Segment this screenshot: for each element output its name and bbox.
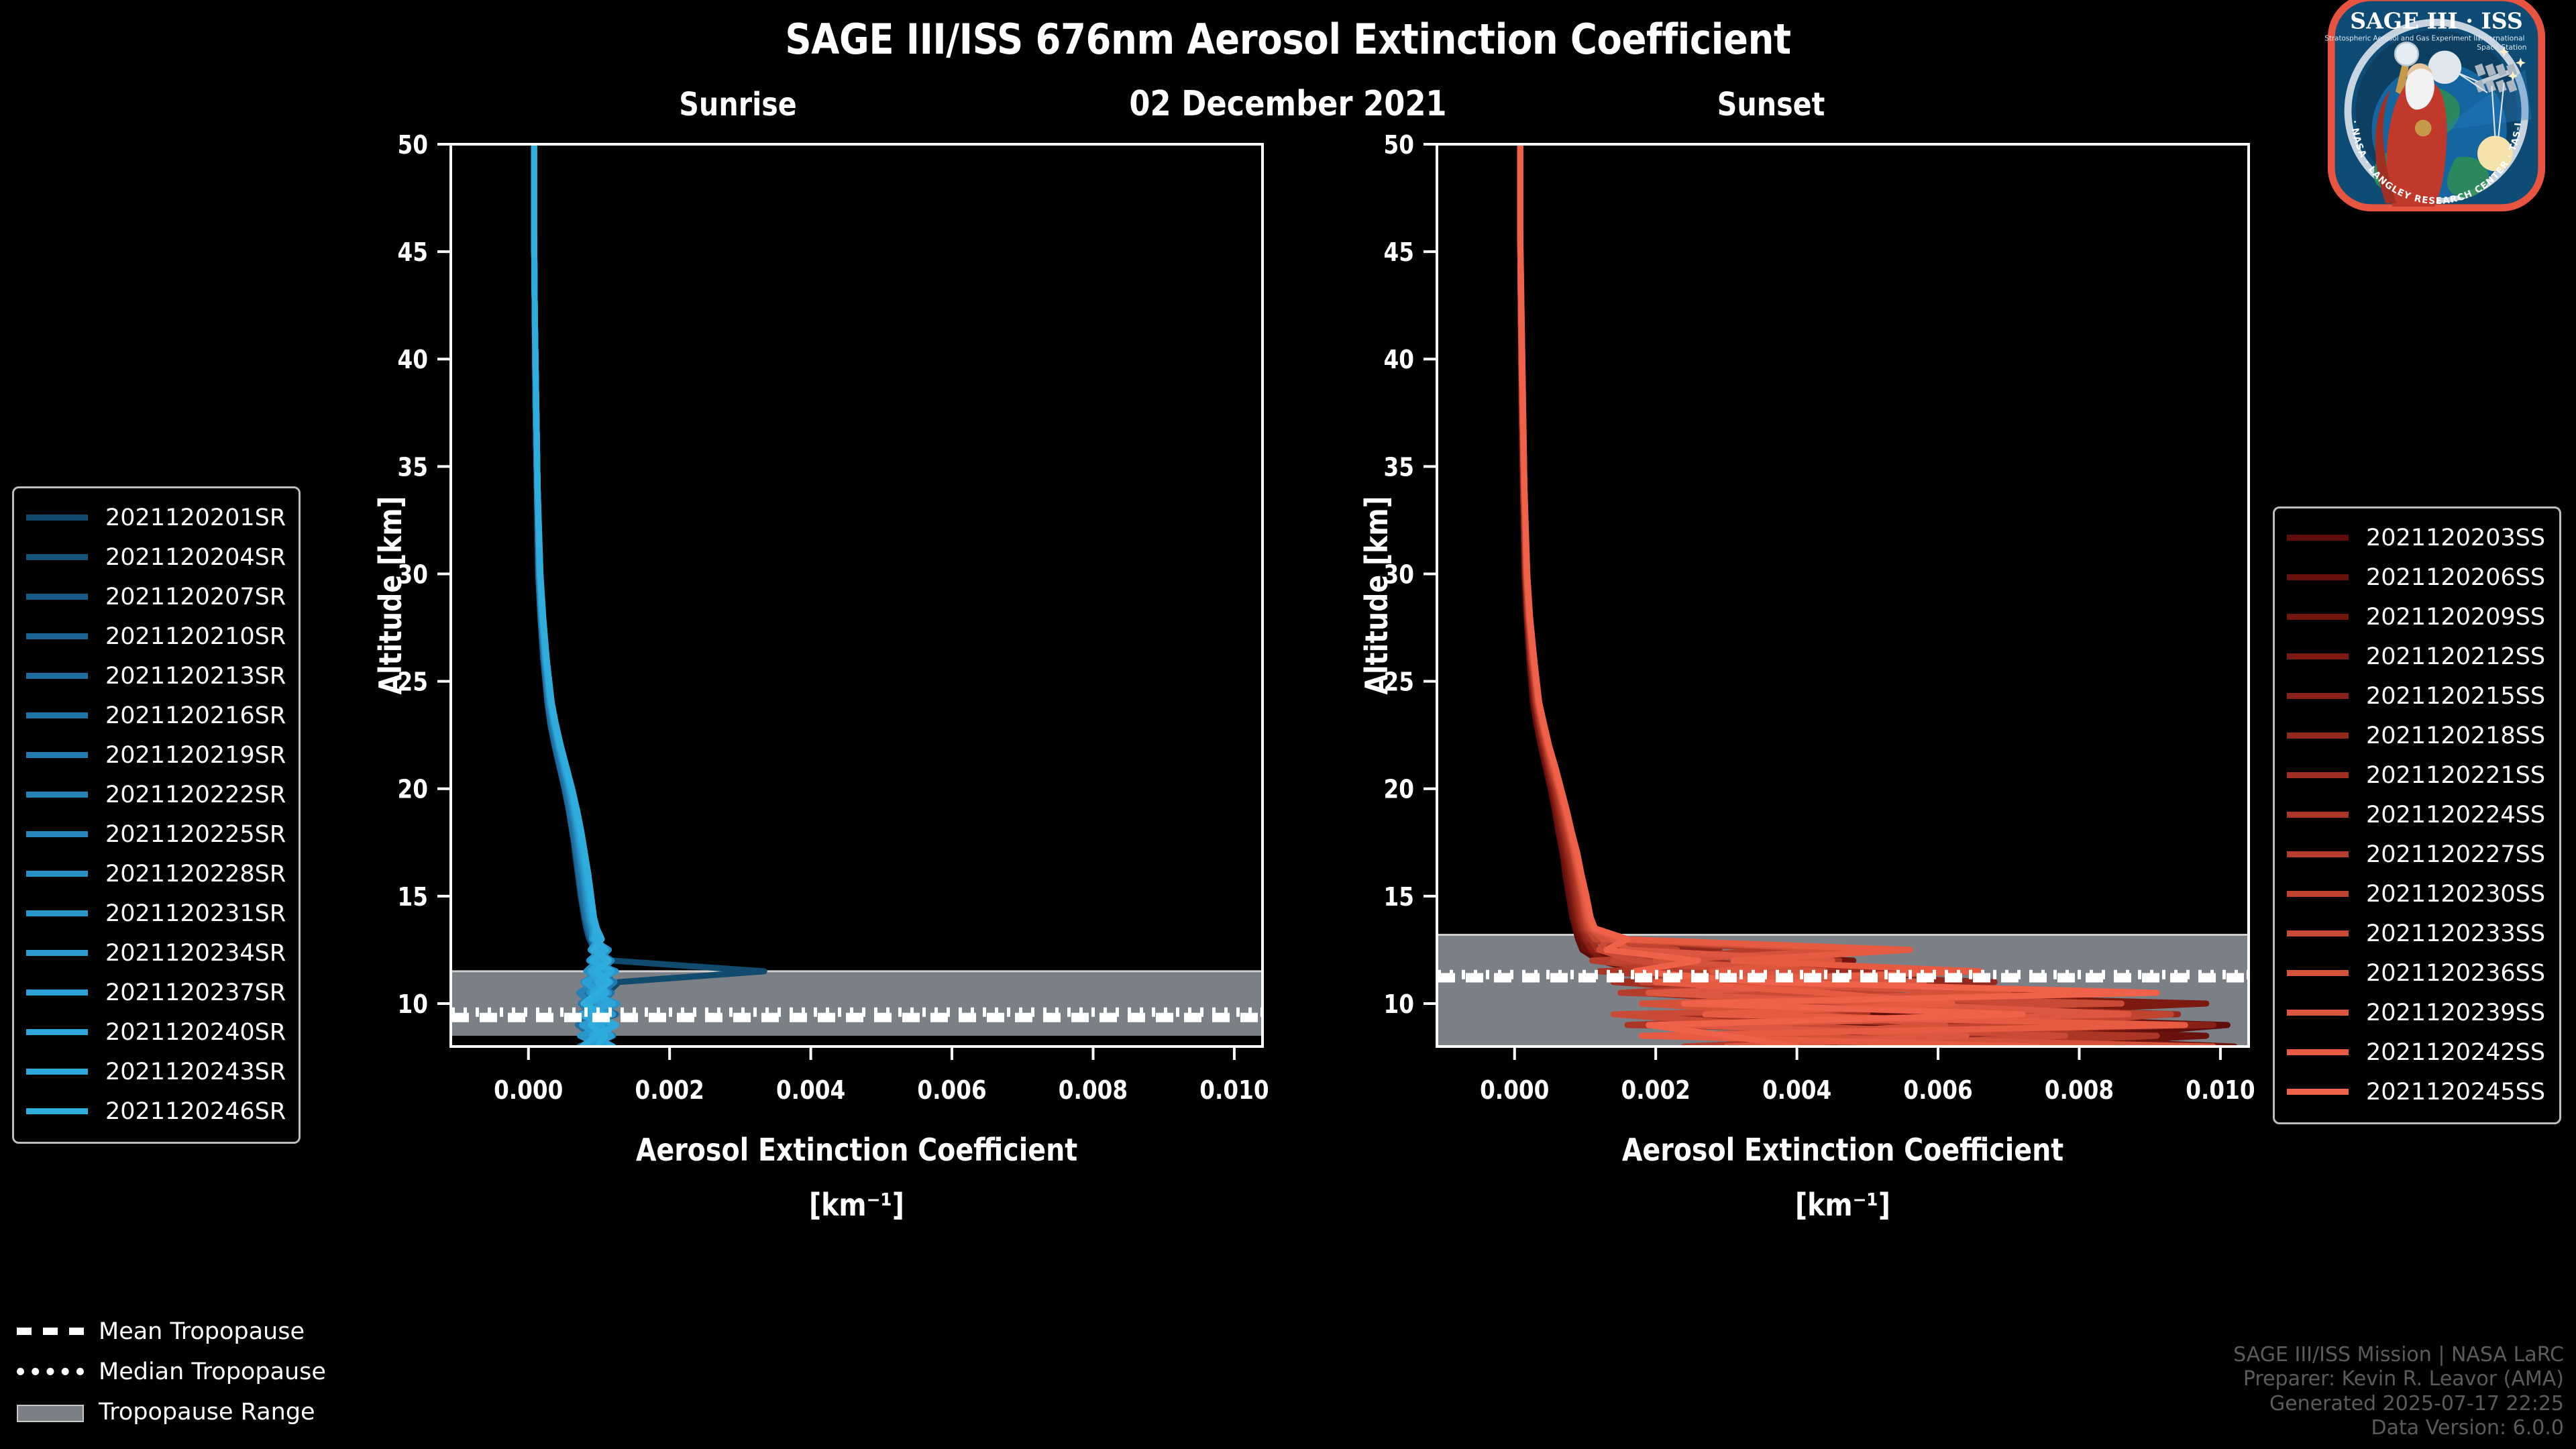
- legend-event-label: 2021120204SR: [105, 544, 286, 571]
- legend-event-label: 2021120246SR: [105, 1098, 286, 1125]
- sunset-legend-item: 2021120215SS: [2287, 676, 2544, 716]
- legend-event-label: 2021120240SR: [105, 1019, 286, 1046]
- legend-event-label: 2021120231SR: [105, 900, 286, 927]
- figure-belt-buckle: [2415, 120, 2432, 137]
- sunset-legend-item: 2021120230SS: [2287, 874, 2544, 914]
- legend-color-swatch: [2287, 1049, 2349, 1055]
- sunrise-legend-item: 2021120213SR: [26, 656, 284, 696]
- y-tick-label: 10: [1384, 990, 1414, 1020]
- credits-line-mission: SAGE III/ISS Mission | NASA LaRC: [2233, 1343, 2564, 1368]
- sunrise-event-legend: 2021120201SR2021120204SR2021120207SR2021…: [12, 486, 301, 1144]
- x-tick-label: 0.004: [776, 1076, 845, 1106]
- plot-background: [1437, 144, 2249, 1046]
- legend-color-swatch: [26, 673, 88, 679]
- sunset-legend-item: 2021120236SS: [2287, 953, 2544, 993]
- legend-event-label: 2021120206SS: [2366, 564, 2545, 591]
- legend-color-swatch: [26, 950, 88, 956]
- y-tick-label: 35: [398, 453, 428, 482]
- band-swatch-icon: [17, 1405, 84, 1419]
- sunset-legend-item: 2021120218SS: [2287, 716, 2544, 755]
- legend-event-label: 2021120222SR: [105, 782, 286, 808]
- sunrise-legend-item: 2021120204SR: [26, 537, 284, 577]
- y-tick-label: 15: [398, 883, 428, 912]
- legend-color-swatch: [26, 1029, 88, 1035]
- legend-color-swatch: [2287, 1089, 2349, 1095]
- credits-line-generated: Generated 2025-07-17 22:25: [2233, 1392, 2564, 1417]
- dotted-line-icon: [17, 1364, 84, 1379]
- y-tick-label: 45: [398, 238, 428, 268]
- legend-event-label: 2021120203SS: [2366, 525, 2545, 551]
- sunset-legend-item: 2021120221SS: [2287, 755, 2544, 795]
- x-tick-label: 0.010: [1199, 1076, 1269, 1106]
- legend-event-label: 2021120225SR: [105, 821, 286, 848]
- legend-color-swatch: [26, 989, 88, 996]
- legend-event-label: 2021120242SS: [2366, 1039, 2545, 1066]
- logo-title: SAGE III · ISS: [2350, 7, 2522, 34]
- legend-color-swatch: [2287, 614, 2349, 620]
- legend-color-swatch: [2287, 693, 2349, 699]
- date-subtitle: 02 December 2021: [180, 84, 2396, 124]
- legend-event-label: 2021120221SS: [2366, 762, 2545, 789]
- legend-color-swatch: [2287, 772, 2349, 778]
- sunrise-legend-item: 2021120243SR: [26, 1052, 284, 1091]
- legend-label-tropopause-range: Tropopause Range: [99, 1399, 315, 1426]
- sunrise-legend-item: 2021120237SR: [26, 973, 284, 1012]
- legend-color-swatch: [2287, 930, 2349, 936]
- x-tick-label: 0.006: [1903, 1076, 1972, 1106]
- legend-color-swatch: [2287, 891, 2349, 897]
- legend-color-swatch: [26, 831, 88, 837]
- legend-color-swatch: [26, 752, 88, 758]
- legend-color-swatch: [26, 633, 88, 639]
- legend-event-label: 2021120237SR: [105, 979, 286, 1006]
- y-tick-label: 40: [1384, 345, 1414, 375]
- sunset-profile-plot: 0.0000.0020.0040.0060.0080.0101015202530…: [1362, 121, 2261, 1261]
- sage-iii-iss-logo: SAGE III · ISSStratospheric Aerosol and …: [2302, 0, 2571, 213]
- legend-event-label: 2021120218SS: [2366, 722, 2545, 749]
- sunrise-panel-label: Sunrise: [623, 86, 853, 123]
- y-tick-label: 45: [1384, 238, 1414, 268]
- plot-svg: 0.0000.0020.0040.0060.0080.0101015202530…: [376, 121, 1275, 1261]
- legend-event-label: 2021120224SS: [2366, 802, 2545, 828]
- x-tick-label: 0.008: [2045, 1076, 2114, 1106]
- logo-svg: SAGE III · ISSStratospheric Aerosol and …: [2302, 0, 2571, 213]
- sunrise-legend-item: 2021120207SR: [26, 577, 284, 616]
- legend-color-swatch: [2287, 574, 2349, 580]
- legend-event-label: 2021120212SS: [2366, 643, 2545, 670]
- legend-color-swatch: [2287, 733, 2349, 739]
- dashed-line-icon: [17, 1324, 84, 1339]
- x-tick-label: 0.002: [635, 1076, 704, 1106]
- legend-color-swatch: [26, 792, 88, 798]
- legend-event-label: 2021120207SR: [105, 584, 286, 610]
- legend-event-label: 2021120209SS: [2366, 604, 2545, 631]
- sunset-legend-item: 2021120245SS: [2287, 1072, 2544, 1112]
- sunrise-legend-item: 2021120210SR: [26, 616, 284, 656]
- page-title: SAGE III/ISS 676nm Aerosol Extinction Co…: [154, 15, 2421, 64]
- tropopause-range-band: [451, 971, 1262, 1036]
- logo-subtitle-right-1: International: [2479, 34, 2524, 43]
- legend-color-swatch: [2287, 653, 2349, 659]
- sunset-legend-item: 2021120242SS: [2287, 1032, 2544, 1072]
- plot-background: [451, 144, 1263, 1046]
- y-tick-label: 50: [398, 131, 428, 160]
- sunset-legend-item: 2021120209SS: [2287, 597, 2544, 637]
- sunrise-legend-item: 2021120216SR: [26, 696, 284, 735]
- x-axis-title: Aerosol Extinction Coefficient: [636, 1132, 1077, 1169]
- legend-event-label: 2021120243SR: [105, 1059, 286, 1085]
- y-axis-title: Altitude [km]: [1362, 496, 1395, 694]
- x-axis-units: [km⁻¹]: [1795, 1187, 1890, 1224]
- x-axis-title: Aerosol Extinction Coefficient: [1622, 1132, 2063, 1169]
- legend-event-label: 2021120245SS: [2366, 1079, 2545, 1106]
- legend-event-label: 2021120236SS: [2366, 960, 2545, 987]
- legend-item-median-tropopause: Median Tropopause: [17, 1352, 366, 1392]
- sunset-legend-item: 2021120233SS: [2287, 914, 2544, 953]
- legend-color-swatch: [2287, 970, 2349, 976]
- legend-event-label: 2021120215SS: [2366, 683, 2545, 710]
- credits-line-preparer: Preparer: Kevin R. Leavor (AMA): [2233, 1367, 2564, 1392]
- legend-color-swatch: [26, 871, 88, 877]
- y-tick-label: 50: [1384, 131, 1414, 160]
- legend-event-label: 2021120216SR: [105, 702, 286, 729]
- legend-color-swatch: [2287, 1010, 2349, 1016]
- x-tick-label: 0.004: [1762, 1076, 1831, 1106]
- staff-orb-icon: [2395, 42, 2418, 66]
- logo-subtitle-right-2: Space Station: [2477, 43, 2526, 52]
- x-tick-label: 0.000: [1480, 1076, 1549, 1106]
- sunrise-legend-item: 2021120222SR: [26, 775, 284, 814]
- y-tick-label: 20: [1384, 775, 1414, 804]
- legend-item-mean-tropopause: Mean Tropopause: [17, 1311, 366, 1352]
- legend-label-mean-tropopause: Mean Tropopause: [99, 1318, 305, 1345]
- y-axis-title: Altitude [km]: [376, 496, 409, 694]
- legend-event-label: 2021120219SR: [105, 742, 286, 769]
- legend-event-label: 2021120233SS: [2366, 920, 2545, 947]
- legend-color-swatch: [2287, 812, 2349, 818]
- sunset-event-legend: 2021120203SS2021120206SS2021120209SS2021…: [2273, 506, 2561, 1124]
- x-tick-label: 0.010: [2186, 1076, 2255, 1106]
- credits-block: SAGE III/ISS Mission | NASA LaRC Prepare…: [2233, 1343, 2564, 1441]
- legend-color-swatch: [26, 1108, 88, 1114]
- sunset-legend-item: 2021120203SS: [2287, 518, 2544, 557]
- sunrise-legend-item: 2021120240SR: [26, 1012, 284, 1052]
- x-tick-label: 0.000: [494, 1076, 563, 1106]
- y-tick-label: 15: [1384, 883, 1414, 912]
- legend-color-swatch: [26, 1069, 88, 1075]
- legend-label-median-tropopause: Median Tropopause: [99, 1358, 326, 1385]
- sunset-legend-item: 2021120212SS: [2287, 637, 2544, 676]
- legend-event-label: 2021120234SR: [105, 940, 286, 967]
- x-axis-units: [km⁻¹]: [809, 1187, 904, 1224]
- y-tick-label: 40: [398, 345, 428, 375]
- sunrise-legend-item: 2021120246SR: [26, 1091, 284, 1131]
- y-tick-label: 10: [398, 990, 428, 1020]
- legend-event-label: 2021120201SR: [105, 504, 286, 531]
- legend-color-swatch: [2287, 535, 2349, 541]
- legend-event-label: 2021120239SS: [2366, 1000, 2545, 1026]
- y-tick-label: 20: [398, 775, 428, 804]
- x-tick-label: 0.002: [1621, 1076, 1690, 1106]
- sunset-legend-item: 2021120206SS: [2287, 557, 2544, 597]
- legend-event-label: 2021120227SS: [2366, 841, 2545, 868]
- x-tick-label: 0.008: [1059, 1076, 1128, 1106]
- legend-color-swatch: [26, 910, 88, 916]
- legend-color-swatch: [2287, 851, 2349, 857]
- sunset-legend-item: 2021120224SS: [2287, 795, 2544, 835]
- sunrise-legend-item: 2021120225SR: [26, 814, 284, 854]
- sunrise-legend-item: 2021120234SR: [26, 933, 284, 973]
- legend-event-label: 2021120228SR: [105, 861, 286, 888]
- sunrise-profile-plot: 0.0000.0020.0040.0060.0080.0101015202530…: [376, 121, 1275, 1261]
- sunset-legend-item: 2021120239SS: [2287, 993, 2544, 1032]
- x-tick-label: 0.006: [917, 1076, 986, 1106]
- legend-item-tropopause-range: Tropopause Range: [17, 1392, 366, 1432]
- legend-event-label: 2021120210SR: [105, 623, 286, 650]
- legend-color-swatch: [26, 554, 88, 560]
- sunrise-legend-item: 2021120201SR: [26, 498, 284, 537]
- sunset-legend-item: 2021120227SS: [2287, 835, 2544, 874]
- tropopause-legend: Mean Tropopause Median Tropopause Tropop…: [17, 1311, 366, 1432]
- legend-color-swatch: [26, 594, 88, 600]
- sunrise-legend-item: 2021120228SR: [26, 854, 284, 894]
- sunset-panel-label: Sunset: [1656, 86, 1886, 123]
- plot-svg: 0.0000.0020.0040.0060.0080.0101015202530…: [1362, 121, 2261, 1261]
- y-tick-label: 35: [1384, 453, 1414, 482]
- legend-color-swatch: [26, 712, 88, 718]
- legend-event-label: 2021120230SS: [2366, 881, 2545, 908]
- legend-color-swatch: [26, 515, 88, 521]
- sunrise-legend-item: 2021120231SR: [26, 894, 284, 933]
- credits-line-data-version: Data Version: 6.0.0: [2233, 1416, 2564, 1441]
- logo-subtitle-left: Stratospheric Aerosol and Gas Experiment…: [2324, 35, 2479, 43]
- legend-event-label: 2021120213SR: [105, 663, 286, 690]
- sunrise-legend-item: 2021120219SR: [26, 735, 284, 775]
